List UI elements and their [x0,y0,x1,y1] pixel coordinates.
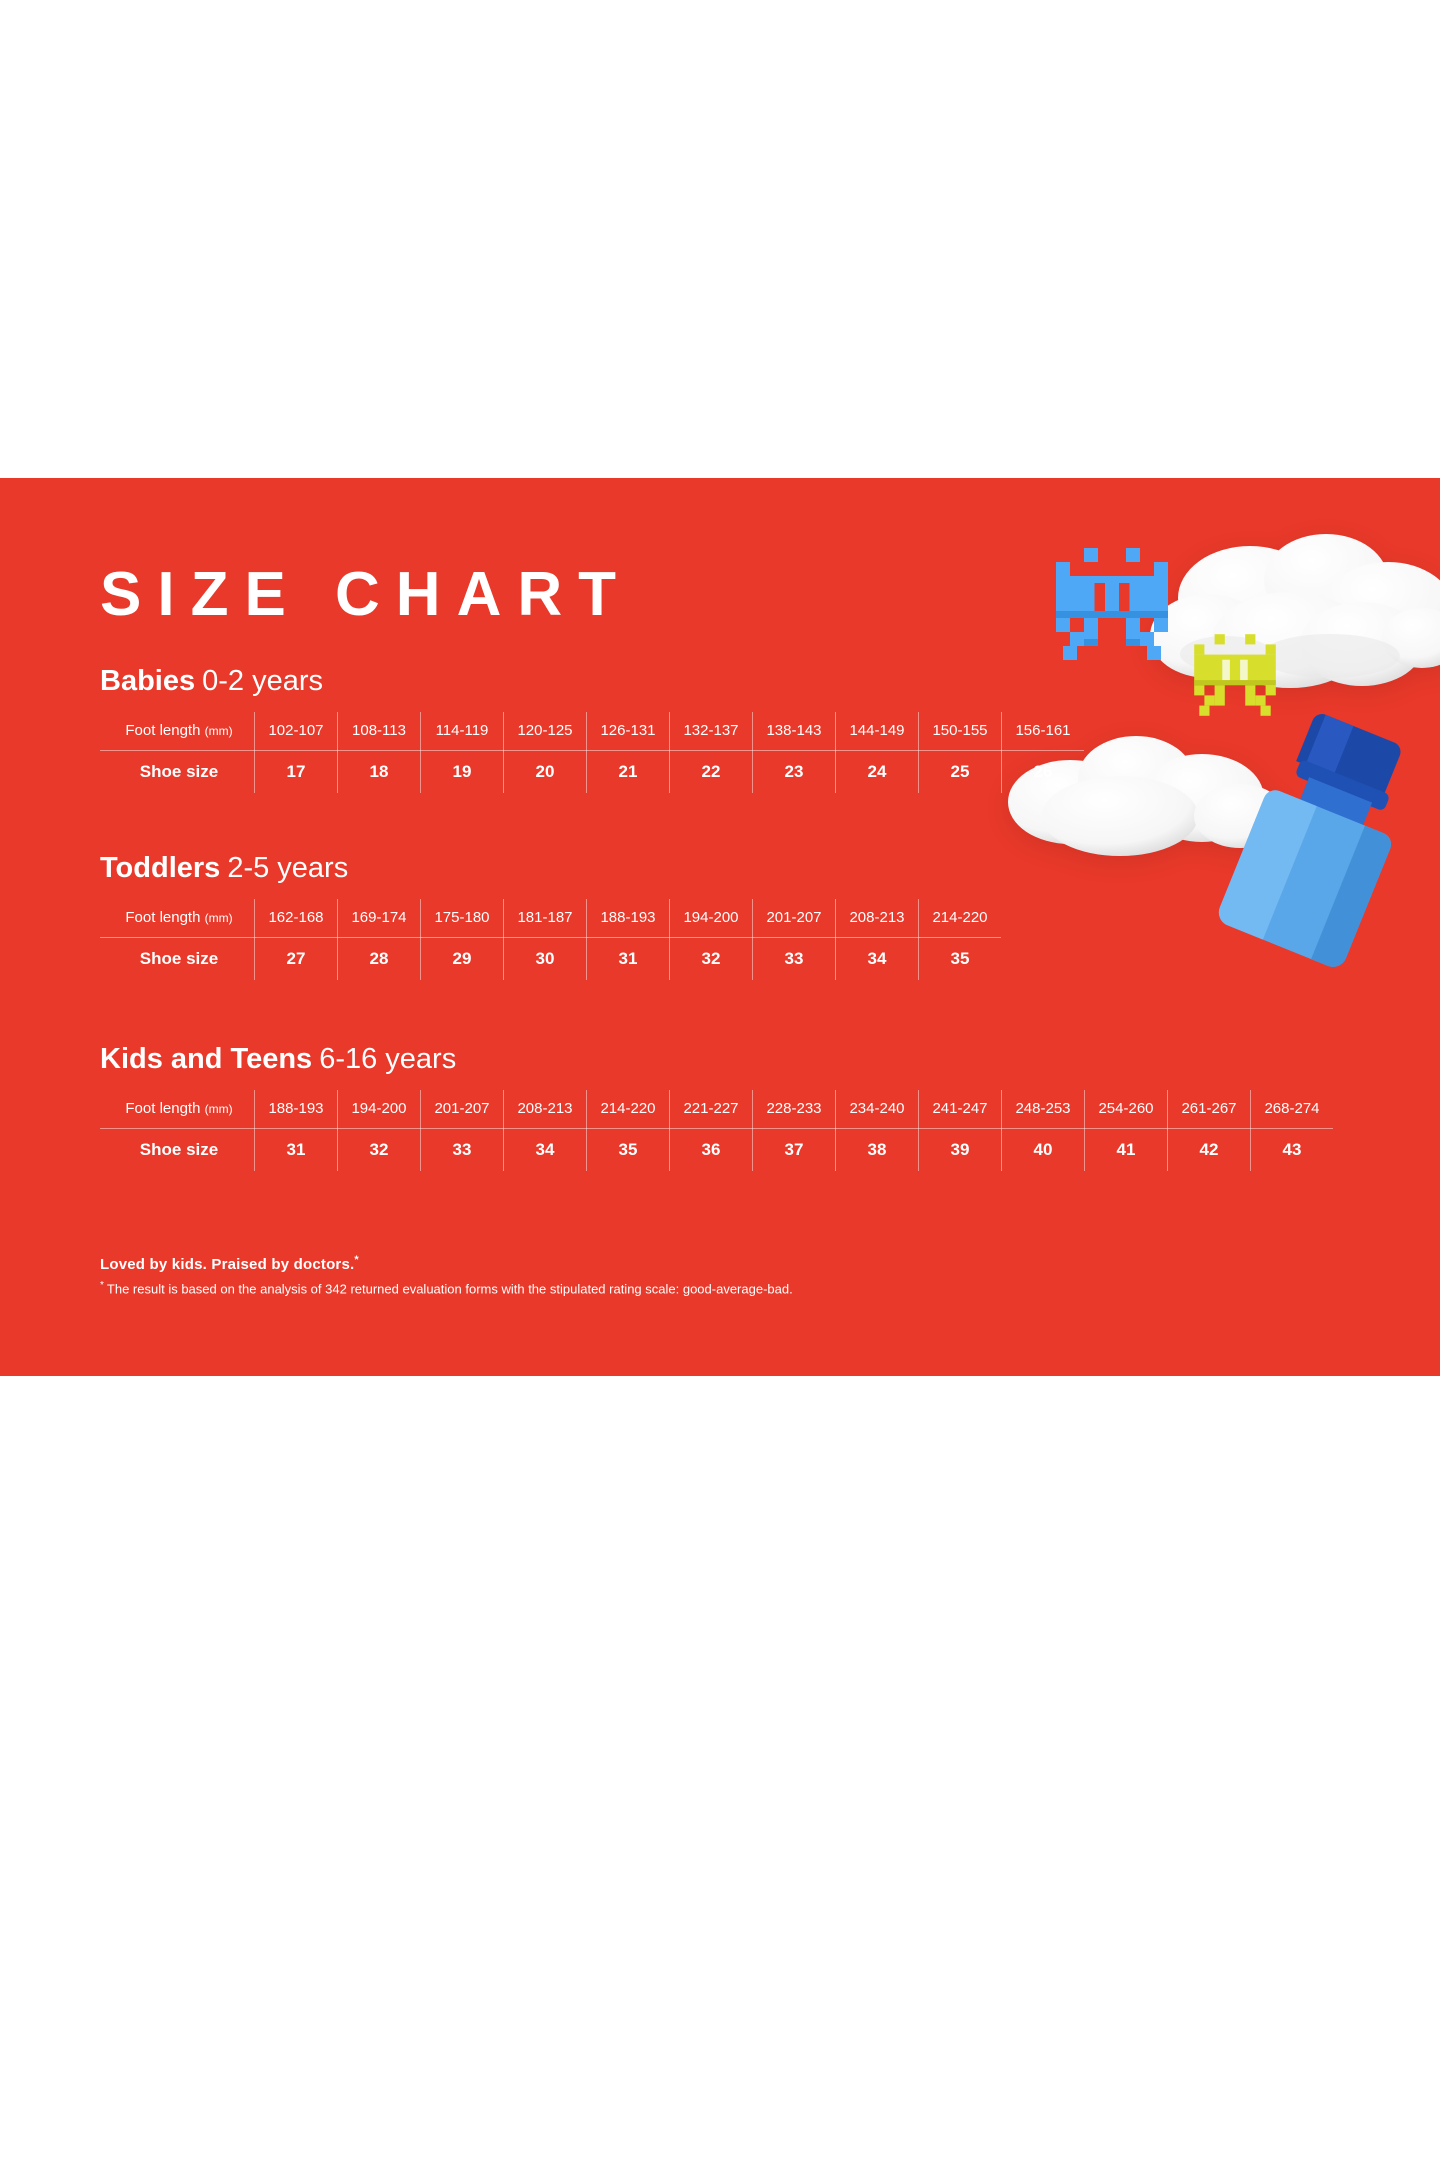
footer-tagline-text: Loved by kids. Praised by doctors. [100,1256,354,1273]
section-heading-kids-and-teens: Kids and Teens6-16 years [100,1044,1333,1076]
page-title: SIZE CHART [100,564,632,626]
cell-shoe-size: 34 [504,1128,587,1171]
section-kids-and-teens: Kids and Teens6-16 years Foot length (mm… [100,1044,1333,1171]
cell-shoe-size: 42 [1168,1128,1251,1171]
cell-foot-length: 169-174 [338,899,421,938]
cell-shoe-size: 24 [836,750,919,793]
cell-shoe-size: 22 [670,750,753,793]
cell-foot-length: 188-193 [587,899,670,938]
row-label-foot-length: Foot length (mm) [100,712,255,751]
cell-foot-length: 132-137 [670,712,753,751]
cell-foot-length: 221-227 [670,1090,753,1129]
cell-foot-length: 234-240 [836,1090,919,1129]
cell-shoe-size: 35 [587,1128,670,1171]
table-row: Shoe size 27 28 29 30 31 32 33 34 35 [100,937,1001,980]
cell-foot-length: 248-253 [1002,1090,1085,1129]
footer-disclaimer-text: The result is based on the analysis of 3… [107,1281,793,1296]
footer: Loved by kids. Praised by doctors.* *The… [100,1254,793,1296]
size-table-kids-and-teens: Foot length (mm) 188-193 194-200 201-207… [100,1090,1333,1171]
cell-foot-length: 108-113 [338,712,421,751]
section-heading-toddlers: Toddlers2-5 years [100,853,1001,885]
section-babies: Babies0-2 years Foot length (mm) 102-107… [100,666,1084,793]
footnote-marker: * [100,1280,104,1291]
cell-shoe-size: 43 [1251,1128,1334,1171]
cell-shoe-size: 25 [919,750,1002,793]
cell-foot-length: 144-149 [836,712,919,751]
row-label-foot-length: Foot length (mm) [100,1090,255,1129]
cell-shoe-size: 31 [255,1128,338,1171]
cell-shoe-size: 33 [753,937,836,980]
cell-foot-length: 241-247 [919,1090,1002,1129]
table-row: Foot length (mm) 188-193 194-200 201-207… [100,1090,1333,1129]
cell-foot-length: 188-193 [255,1090,338,1129]
cell-foot-length: 120-125 [504,712,587,751]
size-chart-banner: SIZE CHART Babies0-2 years Foot length (… [0,478,1440,1376]
cell-shoe-size: 38 [836,1128,919,1171]
cell-foot-length: 126-131 [587,712,670,751]
row-label-foot-length: Foot length (mm) [100,899,255,938]
cell-shoe-size: 34 [836,937,919,980]
cell-foot-length: 181-187 [504,899,587,938]
cell-foot-length: 201-207 [753,899,836,938]
size-table-babies: Foot length (mm) 102-107 108-113 114-119… [100,712,1084,793]
cell-shoe-size: 32 [670,937,753,980]
cell-shoe-size: 37 [753,1128,836,1171]
cell-shoe-size: 26 [1002,750,1085,793]
cell-shoe-size: 17 [255,750,338,793]
cell-foot-length: 138-143 [753,712,836,751]
cell-foot-length: 102-107 [255,712,338,751]
row-label-shoe-size: Shoe size [100,1128,255,1171]
section-group-name: Kids and Teens [100,1043,312,1075]
cell-foot-length: 194-200 [670,899,753,938]
cell-shoe-size: 35 [919,937,1002,980]
footer-disclaimer: *The result is based on the analysis of … [100,1280,793,1296]
section-group-name: Babies [100,665,195,697]
cell-shoe-size: 18 [338,750,421,793]
cell-foot-length: 254-260 [1085,1090,1168,1129]
foot-length-unit: (mm) [205,724,233,738]
foot-length-unit: (mm) [205,1102,233,1116]
section-age-range: 2-5 years [227,852,348,884]
cell-foot-length: 214-220 [587,1090,670,1129]
cell-shoe-size: 41 [1085,1128,1168,1171]
size-table-toddlers: Foot length (mm) 162-168 169-174 175-180… [100,899,1001,980]
foot-length-label: Foot length [125,722,200,739]
cell-shoe-size: 39 [919,1128,1002,1171]
cell-foot-length: 114-119 [421,712,504,751]
cell-shoe-size: 33 [421,1128,504,1171]
cell-foot-length: 201-207 [421,1090,504,1129]
table-row: Foot length (mm) 102-107 108-113 114-119… [100,712,1084,751]
cell-shoe-size: 29 [421,937,504,980]
cell-foot-length: 228-233 [753,1090,836,1129]
foot-length-unit: (mm) [205,911,233,925]
table-row: Shoe size 17 18 19 20 21 22 23 24 25 26 [100,750,1084,793]
foot-length-label: Foot length [125,909,200,926]
table-row: Shoe size 31 32 33 34 35 36 37 38 39 40 … [100,1128,1333,1171]
cell-foot-length: 194-200 [338,1090,421,1129]
table-row: Foot length (mm) 162-168 169-174 175-180… [100,899,1001,938]
cell-foot-length: 150-155 [919,712,1002,751]
cell-shoe-size: 19 [421,750,504,793]
footnote-marker: * [354,1254,358,1266]
cell-foot-length: 261-267 [1168,1090,1251,1129]
cell-shoe-size: 27 [255,937,338,980]
row-label-shoe-size: Shoe size [100,750,255,793]
section-age-range: 0-2 years [202,665,323,697]
footer-tagline: Loved by kids. Praised by doctors.* [100,1254,793,1273]
cell-shoe-size: 21 [587,750,670,793]
cell-foot-length: 208-213 [836,899,919,938]
row-label-shoe-size: Shoe size [100,937,255,980]
foot-length-label: Foot length [125,1100,200,1117]
cell-foot-length: 268-274 [1251,1090,1334,1129]
cell-foot-length: 156-161 [1002,712,1085,751]
section-toddlers: Toddlers2-5 years Foot length (mm) 162-1… [100,853,1001,980]
section-heading-babies: Babies0-2 years [100,666,1084,698]
cell-foot-length: 175-180 [421,899,504,938]
cell-foot-length: 214-220 [919,899,1002,938]
section-group-name: Toddlers [100,852,220,884]
cell-shoe-size: 23 [753,750,836,793]
cell-shoe-size: 20 [504,750,587,793]
size-chart-content: SIZE CHART Babies0-2 years Foot length (… [100,478,1340,1376]
cell-shoe-size: 28 [338,937,421,980]
cell-shoe-size: 31 [587,937,670,980]
section-age-range: 6-16 years [319,1043,456,1075]
cell-shoe-size: 30 [504,937,587,980]
cell-shoe-size: 36 [670,1128,753,1171]
cell-shoe-size: 40 [1002,1128,1085,1171]
cell-foot-length: 162-168 [255,899,338,938]
cell-shoe-size: 32 [338,1128,421,1171]
cell-foot-length: 208-213 [504,1090,587,1129]
